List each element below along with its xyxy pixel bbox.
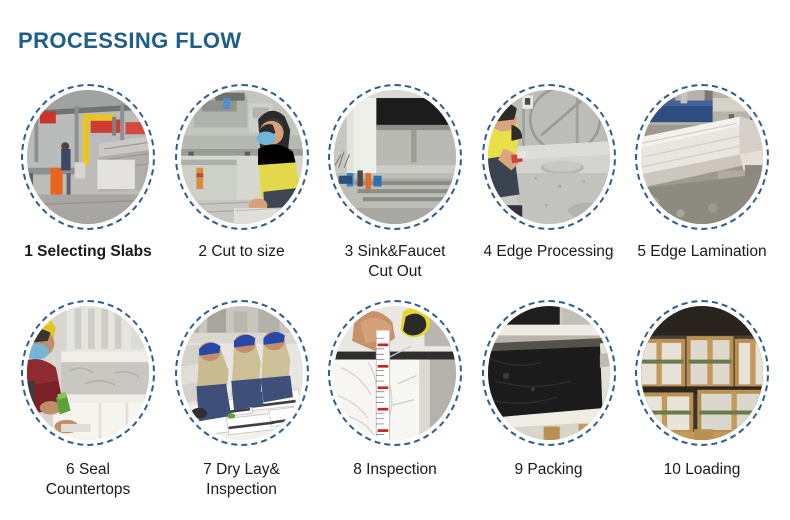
photo-packing — [488, 306, 610, 440]
photo-edge-lamination — [641, 90, 763, 224]
illustration-edge-processing — [488, 90, 610, 224]
step-label-7: 7 Dry Lay& Inspection — [159, 460, 324, 500]
photo-sink-faucet-cut-out — [334, 90, 456, 224]
step-label-3: 3 Sink&Faucet Cut Out — [313, 242, 478, 282]
photo-cut-to-size — [181, 90, 303, 224]
flow-step-5[interactable]: 5 Edge Lamination — [632, 84, 772, 282]
page-title: PROCESSING FLOW — [18, 28, 242, 54]
step-label-2: 2 Cut to size — [159, 242, 324, 262]
flow-step-8[interactable]: 8 Inspection — [325, 300, 465, 500]
step-label-8: 8 Inspection — [313, 460, 478, 480]
illustration-seal-countertops — [27, 306, 149, 440]
step-label-9: 9 Packing — [466, 460, 631, 480]
step-label-1: 1 Selecting Slabs — [6, 242, 171, 262]
illustration-packing — [488, 306, 610, 440]
illustration-edge-lamination — [641, 90, 763, 224]
step-label-5: 5 Edge Lamination — [620, 242, 785, 262]
photo-ring-9 — [482, 300, 616, 446]
flow-step-4[interactable]: 4 Edge Processing — [479, 84, 619, 282]
flow-step-1[interactable]: 1 Selecting Slabs — [18, 84, 158, 282]
photo-ring-8 — [328, 300, 462, 446]
flow-step-10[interactable]: 10 Loading — [632, 300, 772, 500]
photo-selecting-slabs — [27, 90, 149, 224]
photo-ring-2 — [175, 84, 309, 230]
photo-inspection — [334, 306, 456, 440]
photo-ring-5 — [635, 84, 769, 230]
step-label-6: 6 Seal Countertops — [6, 460, 171, 500]
flow-step-6[interactable]: 6 Seal Countertops — [18, 300, 158, 500]
step-label-4: 4 Edge Processing — [466, 242, 631, 262]
flow-row-1: 1 Selecting Slabs — [0, 84, 790, 282]
photo-ring-7 — [175, 300, 309, 446]
illustration-selecting-slabs — [27, 90, 149, 224]
photo-dry-lay-inspection — [181, 306, 303, 440]
photo-seal-countertops — [27, 306, 149, 440]
illustration-loading — [641, 306, 763, 440]
photo-loading — [641, 306, 763, 440]
illustration-sink-faucet-cut-out — [334, 90, 456, 224]
illustration-cut-to-size — [181, 90, 303, 224]
flow-step-3[interactable]: 3 Sink&Faucet Cut Out — [325, 84, 465, 282]
flow-step-9[interactable]: 9 Packing — [479, 300, 619, 500]
photo-ring-1 — [21, 84, 155, 230]
illustration-dry-lay-inspection — [181, 306, 303, 440]
flow-row-2: 6 Seal Countertops — [0, 300, 790, 500]
photo-ring-3 — [328, 84, 462, 230]
flow-step-2[interactable]: 2 Cut to size — [172, 84, 312, 282]
flow-step-7[interactable]: 7 Dry Lay& Inspection — [172, 300, 312, 500]
photo-ring-6 — [21, 300, 155, 446]
photo-ring-10 — [635, 300, 769, 446]
photo-edge-processing — [488, 90, 610, 224]
illustration-inspection — [334, 306, 456, 440]
photo-ring-4 — [482, 84, 616, 230]
step-label-10: 10 Loading — [620, 460, 785, 480]
